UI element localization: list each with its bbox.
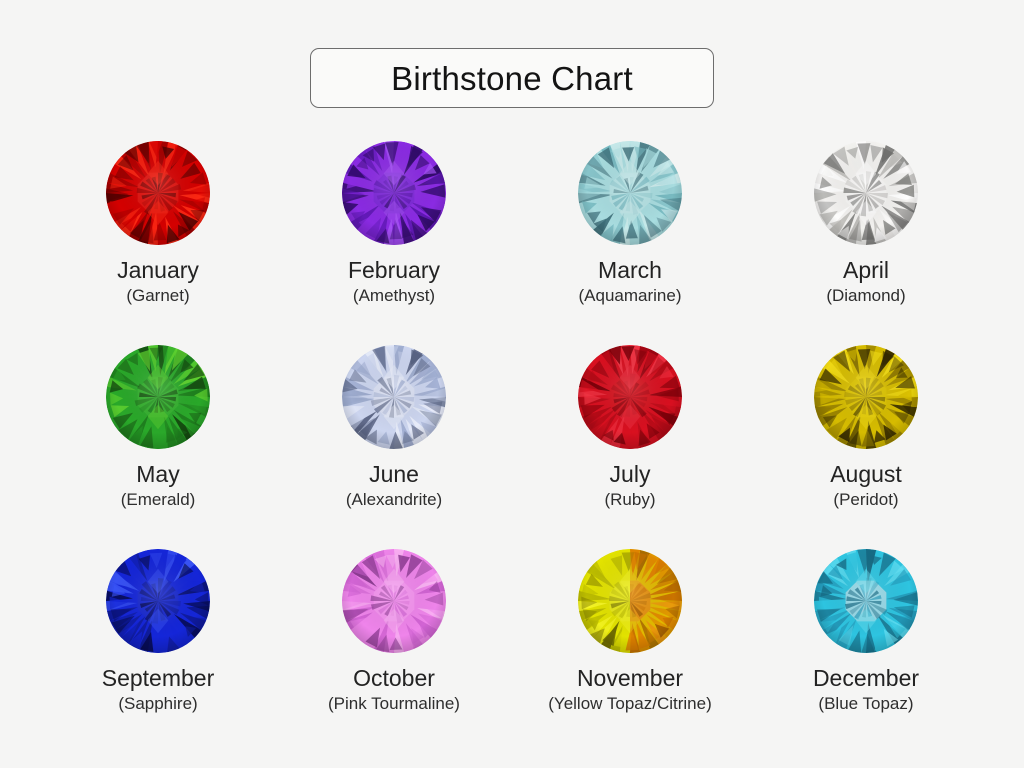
birthstone-month-label: October [353,666,435,691]
birthstone-month-label: June [369,462,419,487]
birthstone-month-label: March [598,258,662,283]
gemstone-round-brilliant-icon [341,548,447,654]
birthstone-stone-label: (Garnet) [126,287,189,306]
birthstone-stone-label: (Blue Topaz) [818,695,913,714]
birthstone-month-label: July [610,462,651,487]
gemstone-round-brilliant-icon [813,344,919,450]
birthstone-stone-label: (Sapphire) [118,695,197,714]
birthstone-month-label: April [843,258,889,283]
gemstone-round-brilliant-icon [341,140,447,246]
birthstone-month-label: September [102,666,215,691]
birthstone-stone-label: (Alexandrite) [346,491,442,510]
birthstone-cell[interactable]: July(Ruby) [512,344,748,544]
birthstone-stone-label: (Pink Tourmaline) [328,695,460,714]
gemstone-round-brilliant-icon [813,140,919,246]
birthstone-stone-label: (Yellow Topaz/Citrine) [548,695,711,714]
birthstone-stone-label: (Diamond) [826,287,905,306]
birthstone-cell[interactable]: December(Blue Topaz) [748,548,984,748]
birthstone-cell[interactable]: October(Pink Tourmaline) [276,548,512,748]
title-box: Birthstone Chart [310,48,714,108]
birthstone-cell[interactable]: March(Aquamarine) [512,140,748,340]
birthstone-cell[interactable]: April(Diamond) [748,140,984,340]
birthstone-cell[interactable]: September(Sapphire) [40,548,276,748]
birthstone-cell[interactable]: January(Garnet) [40,140,276,340]
gemstone-round-brilliant-icon [105,344,211,450]
birthstone-month-label: May [136,462,179,487]
birthstone-cell[interactable]: August(Peridot) [748,344,984,544]
birthstone-cell[interactable]: February(Amethyst) [276,140,512,340]
birthstone-stone-label: (Peridot) [833,491,898,510]
gemstone-round-brilliant-icon [577,140,683,246]
gemstone-round-brilliant-icon [105,140,211,246]
birthstone-cell[interactable]: May(Emerald) [40,344,276,544]
birthstone-month-label: December [813,666,919,691]
gemstone-round-brilliant-icon [813,548,919,654]
birthstone-stone-label: (Ruby) [604,491,655,510]
gemstone-round-brilliant-split-icon [577,548,683,654]
birthstone-cell[interactable]: June(Alexandrite) [276,344,512,544]
gemstone-round-brilliant-icon [105,548,211,654]
birthstone-stone-label: (Emerald) [121,491,196,510]
birthstone-stone-label: (Aquamarine) [579,287,682,306]
gemstone-round-brilliant-icon [577,344,683,450]
birthstone-stone-label: (Amethyst) [353,287,435,306]
birthstone-month-label: August [830,462,902,487]
birthstone-cell[interactable]: November(Yellow Topaz/Citrine) [512,548,748,748]
page-title: Birthstone Chart [391,62,633,95]
birthstone-month-label: February [348,258,440,283]
birthstone-month-label: January [117,258,199,283]
birthstone-month-label: November [577,666,683,691]
gemstone-round-brilliant-icon [341,344,447,450]
birthstone-grid: January(Garnet)February(Amethyst)March(A… [40,140,984,748]
